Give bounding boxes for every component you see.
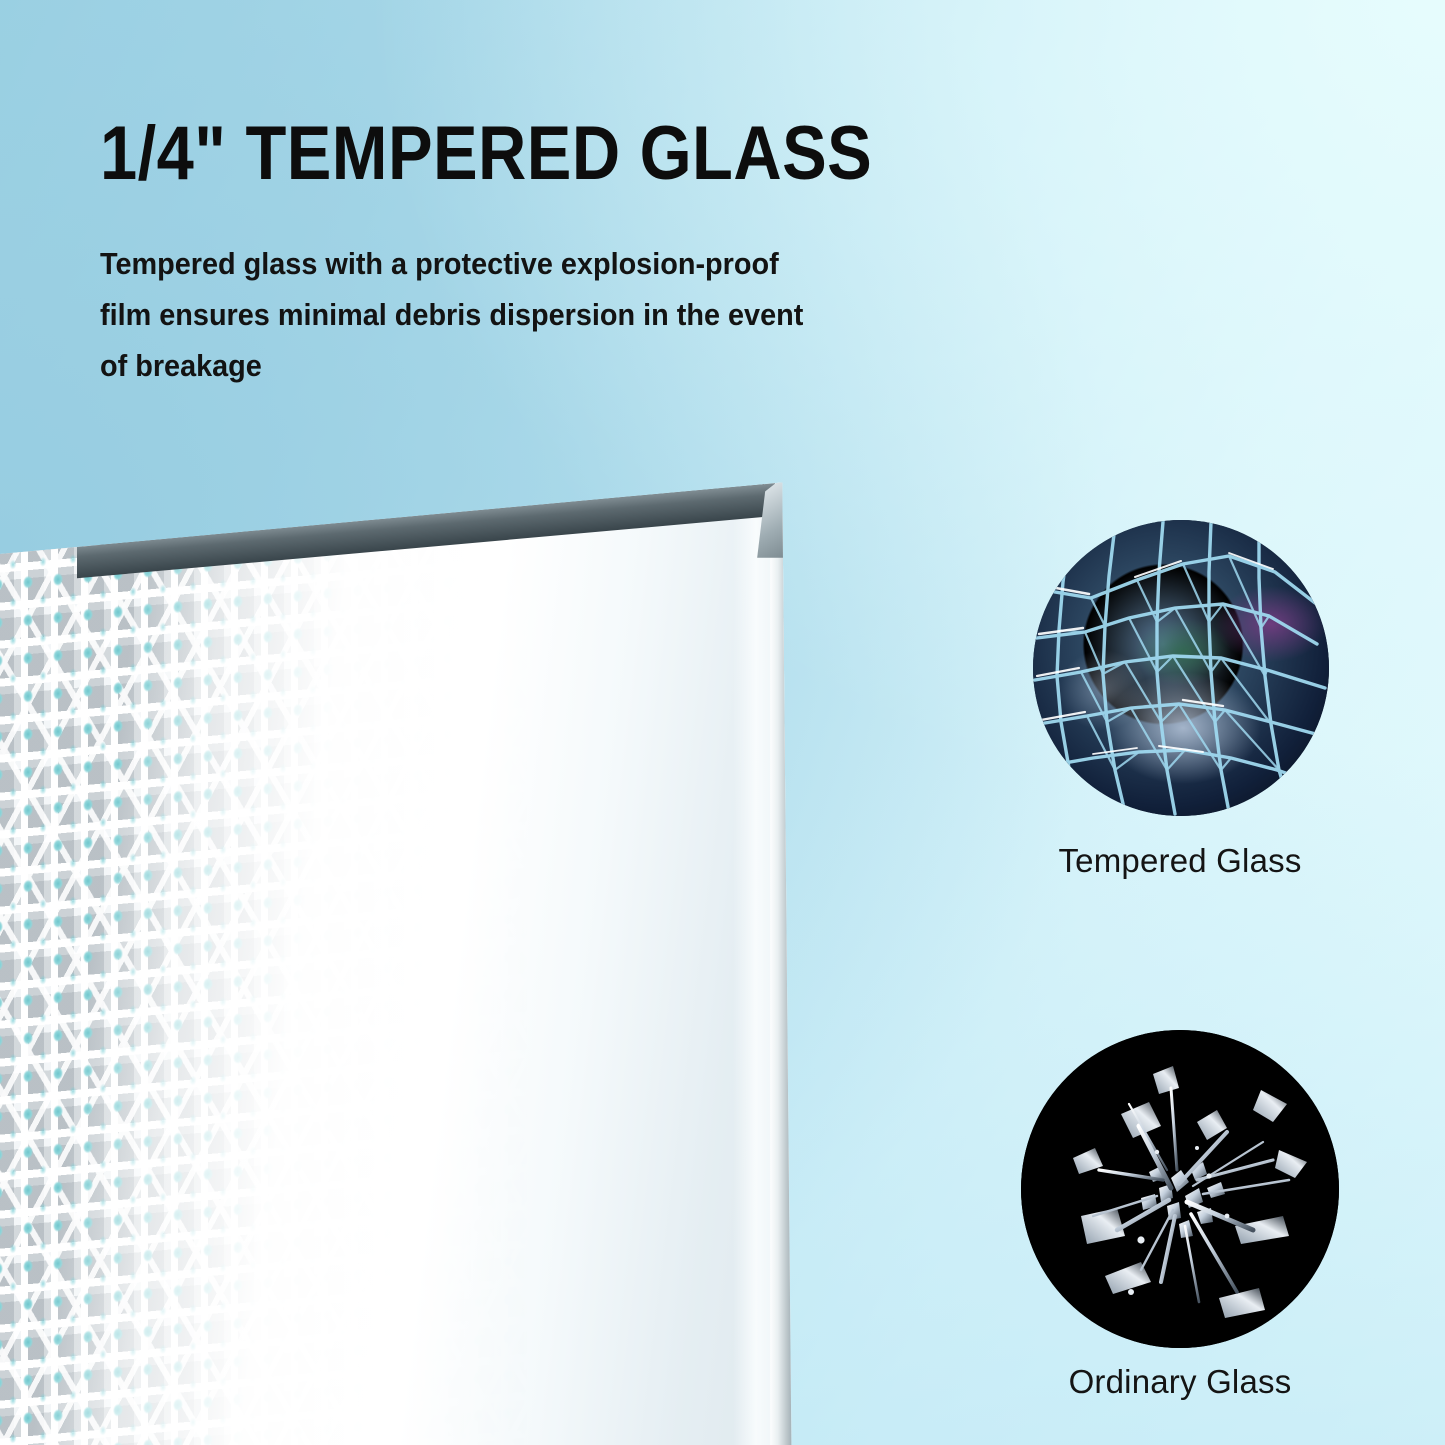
ordinary-glass-shards-icon — [1021, 1030, 1339, 1348]
tempered-glass-crack-icon — [1033, 520, 1329, 816]
panel-top-tickmarks — [0, 455, 840, 489]
infographic-canvas: 1/4" TEMPERED GLASS Tempered glass with … — [0, 0, 1445, 1445]
page-title: 1/4" TEMPERED GLASS — [100, 112, 872, 196]
description-line-2: film ensures minimal debris dispersion i… — [100, 289, 918, 340]
description-text: Tempered glass with a protective explosi… — [100, 238, 918, 391]
description-line-1: Tempered glass with a protective explosi… — [100, 238, 918, 289]
frame-right-edge — [770, 466, 840, 1445]
mirror-specular-sheen — [0, 455, 840, 1445]
frame-corner — [757, 457, 840, 558]
mirror-panel-image — [0, 455, 840, 1445]
glass-surface — [0, 455, 840, 1445]
ordinary-glass-label: Ordinary Glass — [970, 1363, 1390, 1401]
tempered-glass-label: Tempered Glass — [970, 842, 1390, 880]
description-line-3: of breakage — [100, 340, 918, 391]
